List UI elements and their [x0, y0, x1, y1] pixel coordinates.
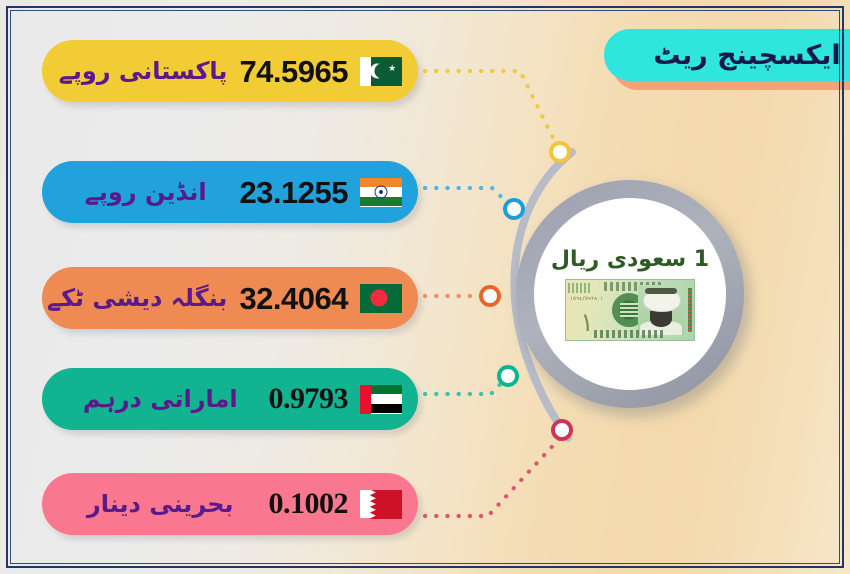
banknote-serial: ١٥٦٤/٥٩٢٨٠١ — [570, 296, 603, 302]
infographic-canvas: ایکسچینج ریٹ ★ 74.5965 پاکستانی روپے 23.… — [0, 0, 850, 574]
node-bahrain[interactable] — [551, 419, 573, 441]
leader-uae — [425, 376, 508, 394]
center-label: 1 سعودی ریال — [551, 247, 709, 272]
leader-pakistan — [425, 71, 560, 152]
title-pill: ایکسچینج ریٹ — [604, 29, 850, 81]
node-uae[interactable] — [497, 365, 519, 387]
leader-bahrain — [425, 438, 560, 516]
leader-india — [425, 188, 514, 209]
node-india[interactable] — [503, 198, 525, 220]
center-circle: 1 سعودی ریال ١٥٦٤/٥٩٢٨٠١ ١ — [534, 198, 726, 390]
saudi-riyal-banknote-icon: ١٥٦٤/٥٩٢٨٠١ ١ — [565, 279, 695, 341]
page-title: ایکسچینج ریٹ — [653, 42, 840, 69]
node-pakistan[interactable] — [549, 141, 571, 163]
node-bangladesh[interactable] — [479, 285, 501, 307]
